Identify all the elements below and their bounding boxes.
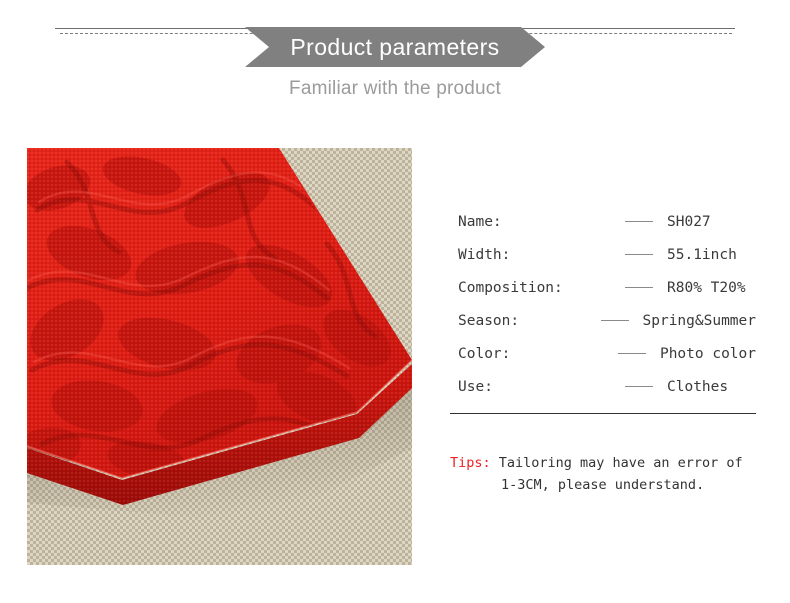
- spec-dash-icon: [625, 287, 653, 288]
- spec-value-width: 55.1inch: [667, 247, 737, 263]
- spec-label-use: Use:: [450, 379, 625, 395]
- spec-dash-icon: [625, 221, 653, 222]
- product-parameters-page: Product parameters Familiar with the pro…: [0, 0, 790, 603]
- spec-dash-icon: [625, 386, 653, 387]
- product-photo: [27, 148, 412, 565]
- spec-dash-icon: [625, 254, 653, 255]
- spec-label-width: Width:: [450, 247, 625, 263]
- spec-row-color: Color: Photo color: [450, 337, 756, 370]
- spec-label-season: Season:: [450, 313, 601, 329]
- spec-row-season: Season: Spring&Summer: [450, 304, 756, 337]
- tips-text-line2: 1-3CM, please understand.: [450, 474, 770, 496]
- page-subtitle: Familiar with the product: [0, 78, 790, 100]
- spec-value-color: Photo color: [660, 346, 756, 362]
- spec-tips-divider: [450, 413, 756, 414]
- spec-value-name: SH027: [667, 214, 711, 230]
- header-banner-arrow: Product parameters: [245, 27, 545, 67]
- header-banner-area: Product parameters: [0, 0, 790, 70]
- spec-row-use: Use: Clothes: [450, 370, 756, 403]
- page-title: Product parameters: [290, 36, 499, 59]
- product-photo-illustration: [27, 148, 412, 565]
- spec-label-composition: Composition:: [450, 280, 625, 296]
- spec-label-color: Color:: [450, 346, 618, 362]
- spec-value-season: Spring&Summer: [643, 313, 757, 329]
- spec-row-width: Width: 55.1inch: [450, 238, 756, 271]
- spec-row-name: Name: SH027: [450, 205, 756, 238]
- tips-text-line1: Tailoring may have an error of: [491, 455, 743, 471]
- spec-dash-icon: [601, 320, 629, 321]
- spec-row-composition: Composition: R80% T20%: [450, 271, 756, 304]
- spec-value-use: Clothes: [667, 379, 728, 395]
- spec-value-composition: R80% T20%: [667, 280, 746, 296]
- product-spec-table: Name: SH027 Width: 55.1inch Composition:…: [450, 205, 756, 403]
- spec-label-name: Name:: [450, 214, 625, 230]
- spec-dash-icon: [618, 353, 646, 354]
- tips-label: Tips:: [450, 455, 491, 471]
- tips-note: Tips: Tailoring may have an error of 1-3…: [450, 452, 770, 496]
